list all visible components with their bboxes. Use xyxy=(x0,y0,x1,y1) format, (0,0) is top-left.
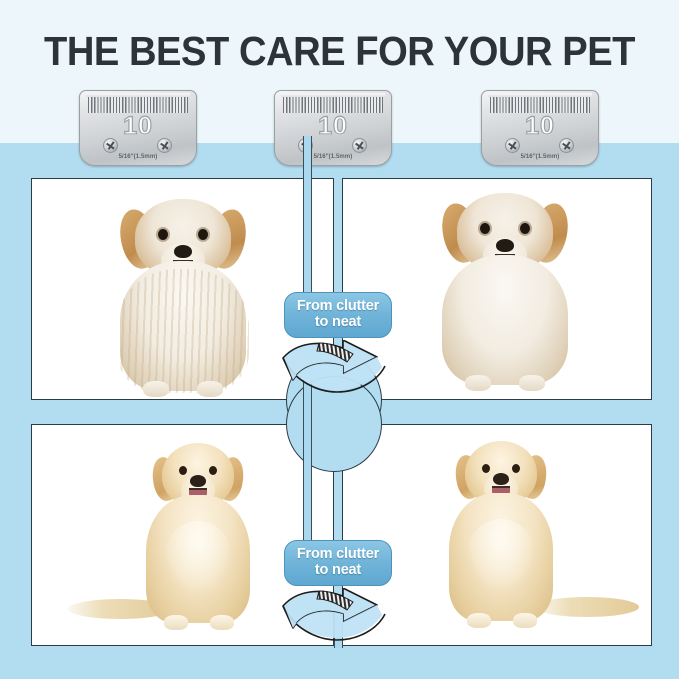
dog-paw-left xyxy=(164,615,188,630)
dog-paw-left xyxy=(465,375,491,391)
product-infographic: THE BEST CARE FOR YOUR PET 10 5/16"(1.5m… xyxy=(0,0,679,679)
dog-eye-right xyxy=(209,466,217,475)
blade-screw-left-icon xyxy=(103,138,118,153)
dog-eye-right xyxy=(512,464,520,473)
dog-paw-right xyxy=(197,381,223,397)
transition-arrow-1 xyxy=(273,340,403,404)
blade-screw-right-icon xyxy=(352,138,367,153)
dog-nose xyxy=(496,239,514,252)
dog-eye-right xyxy=(198,229,208,240)
curved-arrow-icon xyxy=(273,588,403,652)
blade-screw-right-icon xyxy=(559,138,574,153)
blade-teeth-icon xyxy=(490,94,590,113)
dog-paw-left xyxy=(143,381,169,397)
panel-divider-middle xyxy=(303,380,312,548)
transition-line-1: From clutter xyxy=(297,298,379,314)
blade-teeth-icon xyxy=(283,94,383,113)
dog-body xyxy=(442,255,568,385)
curved-arrow-icon xyxy=(273,340,403,404)
transition-badge-1: From clutter to neat xyxy=(284,292,392,338)
dog-paw-right xyxy=(519,375,545,391)
page-title: THE BEST CARE FOR YOUR PET xyxy=(24,28,655,75)
blade-size-label: 5/16"(1.5mm) xyxy=(79,154,197,160)
transition-line-2: to neat xyxy=(315,314,361,330)
dog-nose xyxy=(493,473,509,485)
dog-eye-left xyxy=(480,223,490,234)
transition-line-1: From clutter xyxy=(297,546,379,562)
blade-size-label: 5/16"(1.5mm) xyxy=(274,154,392,160)
blade-screw-left-icon xyxy=(505,138,520,153)
dog-photo-shaggy-before xyxy=(88,199,278,399)
dog-chest xyxy=(467,519,535,591)
transition-badge-2: From clutter to neat xyxy=(284,540,392,586)
dog-eye-left xyxy=(482,464,490,473)
dog-nose xyxy=(174,245,192,258)
dog-photo-shaggy-after xyxy=(415,193,595,393)
blade-screw-right-icon xyxy=(157,138,172,153)
dog-nose xyxy=(190,475,206,487)
dog-eye-right xyxy=(520,223,530,234)
dog-photo-retriever-before xyxy=(118,443,278,638)
transition-callout-2: From clutter to neat xyxy=(273,540,403,652)
blade-number: 10 xyxy=(481,112,599,141)
dog-photo-retriever-after xyxy=(421,441,581,636)
blade-teeth-icon xyxy=(88,94,188,113)
dog-eye-left xyxy=(179,466,187,475)
dog-paw-left xyxy=(467,613,491,628)
panel-divider-top xyxy=(303,136,312,296)
transition-callout-1: From clutter to neat xyxy=(273,292,403,404)
dog-fur-texture xyxy=(117,269,249,393)
clipper-blade-3: 10 5/16"(1.5mm) xyxy=(481,90,599,166)
transition-line-2: to neat xyxy=(315,562,361,578)
dog-eye-left xyxy=(158,229,168,240)
clipper-blade-2: 10 5/16"(1.5mm) xyxy=(274,90,392,166)
dog-chest xyxy=(164,521,232,593)
dog-paw-right xyxy=(210,615,234,630)
blade-size-label: 5/16"(1.5mm) xyxy=(481,154,599,160)
dog-paw-right xyxy=(513,613,537,628)
blade-number: 10 xyxy=(274,112,392,141)
blade-number: 10 xyxy=(79,112,197,141)
transition-arrow-2 xyxy=(273,588,403,652)
clipper-blade-1: 10 5/16"(1.5mm) xyxy=(79,90,197,166)
